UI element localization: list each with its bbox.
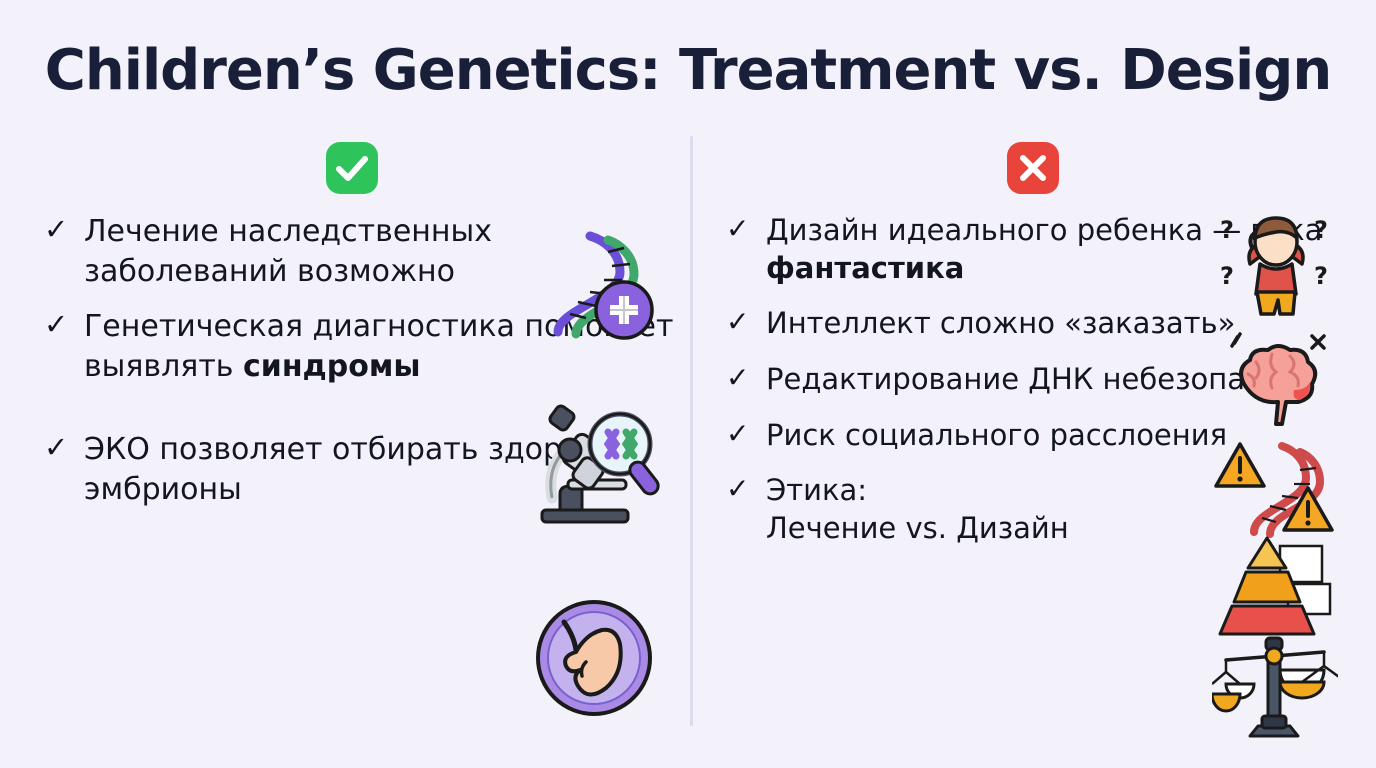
page-title: Children’s Genetics: Treatment vs. Desig… — [0, 38, 1376, 103]
check-bullet-icon: ✓ — [726, 472, 766, 504]
svg-text:?: ? — [1314, 262, 1328, 290]
check-bullet-icon: ✓ — [726, 305, 766, 337]
positive-badge — [326, 142, 378, 194]
check-bullet-icon: ✓ — [726, 417, 766, 449]
check-bullet-icon: ✓ — [726, 212, 766, 244]
negative-badge — [1007, 142, 1059, 194]
svg-text:?: ? — [1220, 216, 1234, 244]
cross-icon — [1007, 142, 1059, 194]
embryo-icon — [524, 588, 664, 728]
pyramid-chart-icon — [1212, 534, 1338, 636]
check-bullet-icon: ✓ — [44, 430, 84, 463]
svg-text:?: ? — [1220, 262, 1234, 290]
dna-medical-icon — [524, 214, 664, 354]
slide-root: Children’s Genetics: Treatment vs. Desig… — [0, 0, 1376, 768]
check-icon — [326, 142, 378, 194]
svg-text:?: ? — [1314, 216, 1328, 244]
confused-person-icon: ? ? ? ? — [1216, 208, 1336, 320]
check-bullet-icon: ✓ — [726, 361, 766, 393]
microscope-chromosome-icon — [524, 394, 664, 534]
balance-scales-icon — [1212, 630, 1338, 740]
dna-warning-icon — [1210, 432, 1340, 540]
check-bullet-icon: ✓ — [44, 212, 84, 245]
check-bullet-icon: ✓ — [44, 307, 84, 340]
column-divider — [690, 136, 693, 726]
brain-icon — [1216, 328, 1336, 428]
